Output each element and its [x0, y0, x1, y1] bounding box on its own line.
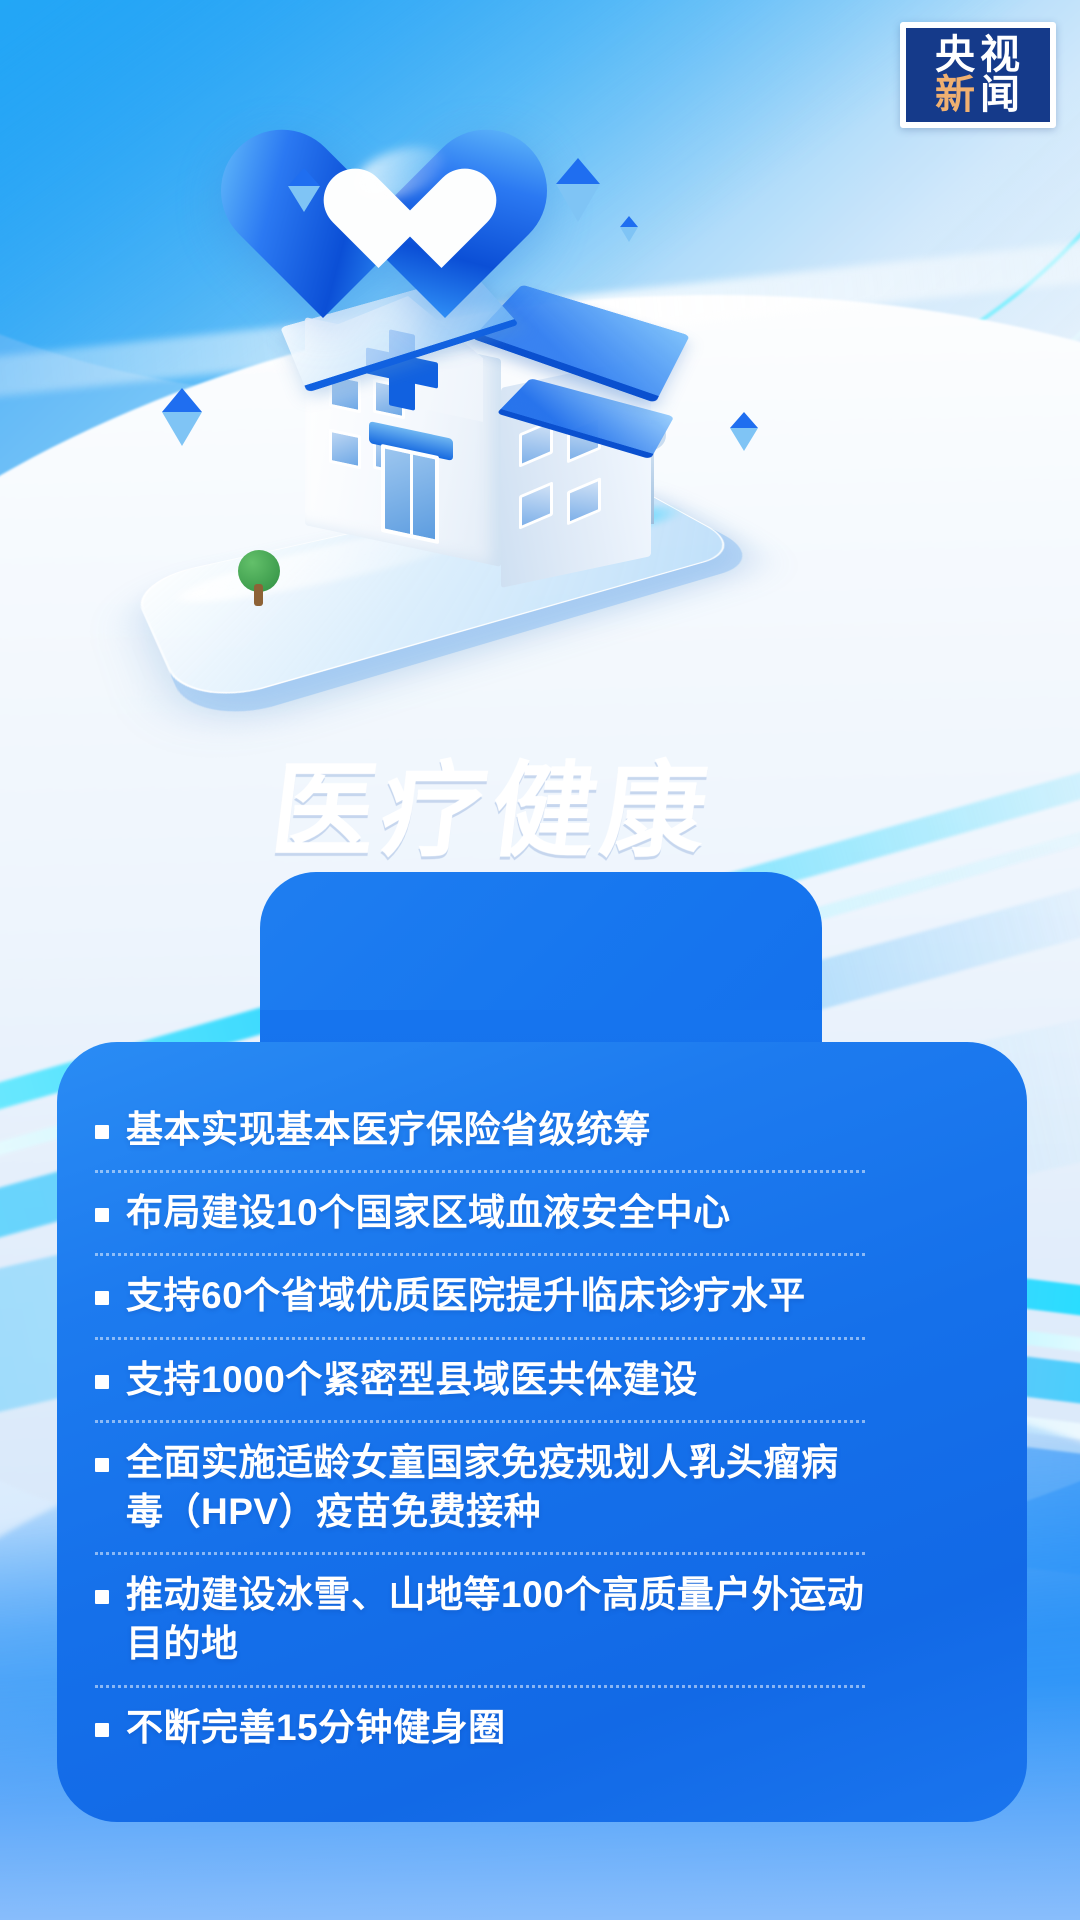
bullet-icon [95, 1723, 109, 1737]
bullet-icon [95, 1458, 109, 1472]
bullet-icon [95, 1291, 109, 1305]
list-item[interactable]: 支持1000个紧密型县域医共体建设 [95, 1340, 865, 1420]
page-title: 医疗健康 [265, 752, 880, 872]
list-item[interactable]: 布局建设10个国家区域血液安全中心 [95, 1173, 865, 1253]
building-door [381, 444, 439, 544]
list-item[interactable]: 推动建设冰雪、山地等100个高质量户外运动目的地 [95, 1555, 865, 1684]
logo-line-1: 央 视 [935, 35, 1021, 75]
logo-line-2: 新 闻 [935, 75, 1021, 115]
poster-root: 央 视 新 闻 [0, 0, 1080, 1920]
bullet-icon [95, 1375, 109, 1389]
logo-char-shi: 视 [980, 35, 1021, 75]
list-item[interactable]: 全面实施适龄女童国家免疫规划人乳头瘤病毒（HPV）疫苗免费接种 [95, 1423, 865, 1552]
list-item-text: 全面实施适龄女童国家免疫规划人乳头瘤病毒（HPV）疫苗免费接种 [126, 1438, 865, 1536]
glass-heart-icon [328, 116, 578, 326]
logo-char-wen: 闻 [980, 75, 1021, 115]
bullet-icon [95, 1125, 109, 1139]
bullet-icon [95, 1590, 109, 1604]
list-item-text: 布局建设10个国家区域血液安全中心 [126, 1188, 731, 1237]
logo-char-xin: 新 [935, 75, 976, 115]
list-item-text: 不断完善15分钟健身圈 [126, 1703, 506, 1752]
cctv-news-logo: 央 视 新 闻 [900, 22, 1056, 128]
logo-char-yang: 央 [935, 35, 976, 75]
list-item[interactable]: 不断完善15分钟健身圈 [95, 1688, 865, 1768]
tree-trunk [254, 584, 263, 606]
list-item[interactable]: 基本实现基本医疗保险省级统筹 [95, 1090, 865, 1170]
policy-list: 基本实现基本医疗保险省级统筹 布局建设10个国家区域血液安全中心 支持60个省域… [95, 1090, 865, 1768]
list-item[interactable]: 支持60个省域优质医院提升临床诊疗水平 [95, 1256, 865, 1336]
list-item-text: 支持1000个紧密型县域医共体建设 [126, 1355, 698, 1404]
bullet-icon [95, 1208, 109, 1222]
hospital-3d-illustration [120, 120, 820, 720]
list-item-text: 推动建设冰雪、山地等100个高质量户外运动目的地 [126, 1570, 865, 1668]
list-item-text: 支持60个省域优质医院提升临床诊疗水平 [126, 1271, 806, 1320]
list-item-text: 基本实现基本医疗保险省级统筹 [126, 1105, 651, 1154]
